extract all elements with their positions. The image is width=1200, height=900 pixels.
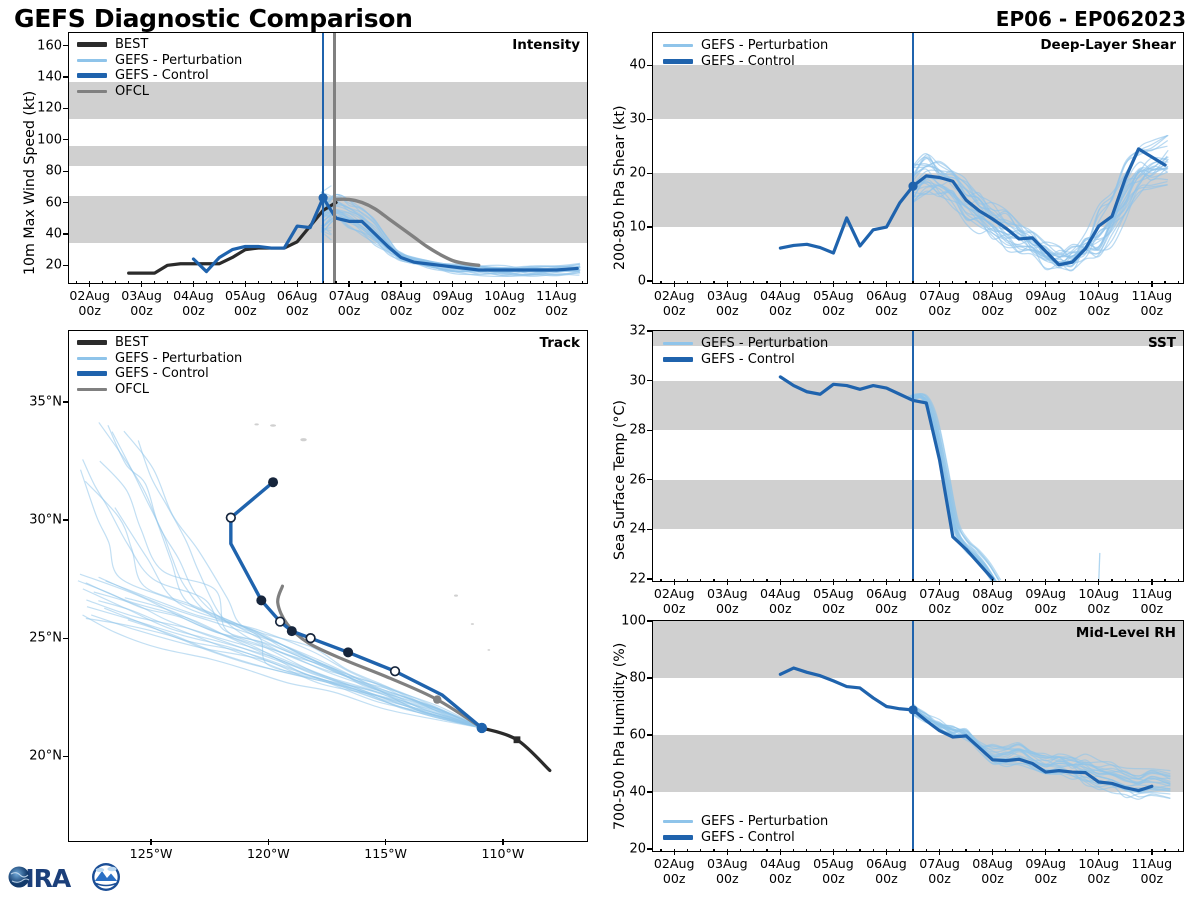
y-tick-label: 0	[614, 274, 646, 289]
x-minor-tick	[859, 579, 860, 582]
legend-swatch-control	[77, 371, 107, 376]
legend-swatch-ofcl	[77, 388, 107, 391]
y-tick-mark	[647, 734, 652, 735]
x-tick-mark	[886, 579, 887, 585]
x-minor-tick	[766, 281, 767, 284]
x-minor-tick	[713, 579, 714, 582]
x-minor-tick	[1032, 849, 1033, 852]
x-tick-label: 04Aug00z	[173, 288, 214, 318]
legend-swatch-perturbation	[663, 820, 693, 823]
x-minor-tick	[219, 281, 220, 284]
x-tick-label: 05Aug00z	[225, 288, 266, 318]
y-tick-label: 100	[30, 132, 62, 147]
island	[487, 649, 490, 651]
x-minor-tick	[713, 849, 714, 852]
y-tick-label: 40	[614, 58, 646, 73]
ensemble-member	[911, 394, 999, 580]
x-minor-tick	[1178, 579, 1179, 582]
x-tick-label: 10Aug00z	[1078, 586, 1119, 616]
y-tick-label: 20	[614, 166, 646, 181]
lon-tick-label: 110°W	[482, 846, 525, 861]
x-tick-label: 09Aug00z	[1025, 288, 1066, 318]
legend-label-perturbation: GEFS - Perturbation	[701, 814, 828, 830]
x-tick-label: 07Aug00z	[329, 288, 370, 318]
x-minor-tick	[700, 849, 701, 852]
x-minor-tick	[323, 281, 324, 284]
legend-swatch-best	[77, 340, 107, 345]
x-minor-tick	[979, 281, 980, 284]
x-tick-mark	[833, 281, 834, 287]
rh-panel-title: Mid-Level RH	[1076, 625, 1176, 641]
x-minor-tick	[806, 579, 807, 582]
x-minor-tick	[846, 849, 847, 852]
x-tick-mark	[727, 281, 728, 287]
x-minor-tick	[1111, 849, 1112, 852]
legend-label-perturbation: GEFS - Perturbation	[115, 351, 242, 367]
intensity-legend: BEST GEFS - Perturbation GEFS - Control …	[77, 37, 242, 99]
lat-tick-label: 25°N	[16, 631, 62, 646]
shear-legend: GEFS - Perturbation GEFS - Control	[663, 38, 828, 69]
x-minor-tick	[713, 281, 714, 284]
x-tick-label: 11Aug00z	[536, 288, 577, 318]
x-minor-tick	[102, 281, 103, 284]
gefs-init-line	[322, 33, 325, 283]
legend-swatch-ofcl	[77, 90, 107, 93]
x-minor-tick	[687, 849, 688, 852]
x-tick-mark	[141, 281, 142, 287]
x-tick-mark	[674, 281, 675, 287]
x-minor-tick	[873, 849, 874, 852]
x-tick-mark	[556, 281, 557, 287]
ensemble-member	[909, 397, 997, 581]
x-minor-tick	[687, 579, 688, 582]
x-tick-mark	[297, 281, 298, 287]
y-tick-label: 160	[30, 38, 62, 53]
x-minor-tick	[766, 849, 767, 852]
legend-label-perturbation: GEFS - Perturbation	[115, 53, 242, 69]
y-tick-mark	[647, 620, 652, 621]
x-tick-mark	[833, 849, 834, 855]
intensity-y-axis-label: 10m Max Wind Speed (kt)	[22, 91, 38, 275]
lon-tick-mark	[502, 839, 503, 845]
x-tick-label: 09Aug00z	[1025, 586, 1066, 616]
ensemble-member	[911, 396, 999, 581]
x-tick-mark	[348, 281, 349, 287]
control-track-marker	[268, 477, 278, 487]
legend-label-control: GEFS - Control	[701, 830, 795, 846]
x-minor-tick	[1072, 849, 1073, 852]
x-minor-tick	[413, 281, 414, 284]
x-tick-label: 02Aug00z	[654, 586, 695, 616]
x-minor-tick	[979, 849, 980, 852]
ensemble-track	[81, 470, 482, 728]
x-minor-tick	[1164, 281, 1165, 284]
x-minor-tick	[1125, 281, 1126, 284]
x-minor-tick	[740, 849, 741, 852]
ensemble-member	[910, 394, 998, 580]
x-tick-mark	[400, 281, 401, 287]
legend-label-control: GEFS - Control	[115, 366, 209, 382]
y-tick-label: 32	[614, 324, 646, 339]
x-minor-tick	[426, 281, 427, 284]
x-tick-label: 07Aug00z	[919, 586, 960, 616]
track-panel-title: Track	[540, 335, 580, 351]
x-tick-mark	[674, 849, 675, 855]
y-tick-mark	[647, 173, 652, 174]
x-tick-mark	[1045, 579, 1046, 585]
y-tick-label: 40	[30, 226, 62, 241]
ensemble-member	[913, 395, 1001, 581]
shear-panel: Deep-Layer Shear GEFS - Perturbation GEF…	[652, 32, 1184, 284]
legend-label-best: BEST	[115, 335, 148, 351]
y-tick-mark	[647, 280, 652, 281]
x-minor-tick	[806, 281, 807, 284]
x-minor-tick	[361, 281, 362, 284]
y-tick-mark	[63, 233, 68, 234]
y-tick-label: 20	[614, 842, 646, 857]
x-minor-tick	[793, 849, 794, 852]
x-minor-tick	[1085, 849, 1086, 852]
ensemble-member	[323, 206, 580, 272]
x-minor-tick	[846, 579, 847, 582]
ensemble-member	[323, 204, 580, 273]
x-minor-tick	[465, 281, 466, 284]
x-tick-label: 07Aug00z	[919, 288, 960, 318]
rh-panel: Mid-Level RH GEFS - Perturbation GEFS - …	[652, 620, 1184, 852]
x-minor-tick	[232, 281, 233, 284]
legend-label-control: GEFS - Control	[701, 54, 795, 70]
y-tick-mark	[63, 76, 68, 77]
x-minor-tick	[387, 281, 388, 284]
control-track-marker-open	[306, 634, 315, 643]
x-minor-tick	[478, 281, 479, 284]
x-minor-tick	[979, 579, 980, 582]
x-tick-label: 09Aug00z	[1025, 856, 1066, 886]
x-tick-label: 04Aug00z	[760, 856, 801, 886]
x-minor-tick	[952, 579, 953, 582]
x-tick-mark	[89, 281, 90, 287]
x-tick-label: 06Aug00z	[866, 856, 907, 886]
x-minor-tick	[740, 281, 741, 284]
x-minor-tick	[899, 281, 900, 284]
y-tick-mark	[647, 226, 652, 227]
x-tick-mark	[992, 849, 993, 855]
x-tick-mark	[245, 281, 246, 287]
x-tick-mark	[886, 849, 887, 855]
rh-legend: GEFS - Perturbation GEFS - Control	[663, 814, 828, 845]
x-tick-label: 08Aug00z	[972, 288, 1013, 318]
x-minor-tick	[206, 281, 207, 284]
control-track-marker	[256, 595, 266, 605]
x-minor-tick	[1138, 849, 1139, 852]
shear-plot-area	[653, 33, 1181, 281]
control-track-marker-open	[227, 513, 236, 522]
x-tick-label: 07Aug00z	[919, 856, 960, 886]
x-tick-label: 09Aug00z	[432, 288, 473, 318]
x-tick-mark	[1045, 849, 1046, 855]
x-tick-label: 10Aug00z	[1078, 856, 1119, 886]
control-track-marker-open	[276, 617, 285, 626]
x-tick-mark	[1151, 849, 1152, 855]
ensemble-track	[108, 425, 482, 728]
x-tick-label: 05Aug00z	[813, 586, 854, 616]
lat-tick-label: 30°N	[16, 513, 62, 528]
y-tick-label: 30	[614, 373, 646, 388]
x-minor-tick	[582, 281, 583, 284]
x-minor-tick	[1072, 281, 1073, 284]
x-tick-label: 08Aug00z	[381, 288, 422, 318]
y-tick-mark	[63, 45, 68, 46]
x-tick-mark	[886, 281, 887, 287]
legend-swatch-best	[77, 42, 107, 47]
x-tick-mark	[939, 579, 940, 585]
x-tick-label: 03Aug00z	[707, 586, 748, 616]
x-minor-tick	[926, 849, 927, 852]
x-tick-mark	[1151, 281, 1152, 287]
y-tick-label: 40	[614, 785, 646, 800]
x-minor-tick	[912, 281, 913, 284]
y-tick-label: 80	[30, 164, 62, 179]
island	[270, 424, 276, 427]
x-minor-tick	[258, 281, 259, 284]
x-minor-tick	[912, 579, 913, 582]
x-minor-tick	[1058, 579, 1059, 582]
x-minor-tick	[753, 281, 754, 284]
x-minor-tick	[569, 281, 570, 284]
x-tick-mark	[939, 281, 940, 287]
x-tick-mark	[727, 579, 728, 585]
ensemble-member	[913, 710, 1170, 792]
x-minor-tick	[965, 281, 966, 284]
control-track-marker	[343, 647, 353, 657]
lon-tick-label: 120°W	[247, 846, 290, 861]
y-tick-label: 26	[614, 472, 646, 487]
y-tick-mark	[647, 677, 652, 678]
best-track	[482, 728, 550, 771]
y-tick-label: 60	[614, 728, 646, 743]
legend-swatch-perturbation	[77, 357, 107, 360]
x-tick-mark	[1098, 281, 1099, 287]
x-minor-tick	[1005, 849, 1006, 852]
x-minor-tick	[154, 281, 155, 284]
y-tick-mark	[63, 265, 68, 266]
x-minor-tick	[284, 281, 285, 284]
x-minor-tick	[700, 579, 701, 582]
x-tick-label: 10Aug00z	[1078, 288, 1119, 318]
y-tick-mark	[647, 380, 652, 381]
y-tick-mark	[647, 791, 652, 792]
x-minor-tick	[115, 281, 116, 284]
x-tick-label: 08Aug00z	[972, 586, 1013, 616]
x-minor-tick	[1085, 579, 1086, 582]
x-tick-mark	[780, 849, 781, 855]
x-minor-tick	[1125, 849, 1126, 852]
x-minor-tick	[1019, 579, 1020, 582]
x-minor-tick	[543, 281, 544, 284]
x-tick-label: 05Aug00z	[813, 288, 854, 318]
best-track-marker	[514, 736, 521, 743]
x-minor-tick	[965, 579, 966, 582]
y-tick-label: 22	[614, 572, 646, 587]
control-track-init-marker	[477, 723, 487, 733]
x-minor-tick	[660, 579, 661, 582]
x-minor-tick	[271, 281, 272, 284]
x-minor-tick	[439, 281, 440, 284]
ensemble-member	[910, 395, 998, 581]
x-tick-mark	[780, 281, 781, 287]
ensemble-member	[912, 397, 1000, 581]
control-track-marker	[287, 626, 297, 636]
y-tick-label: 140	[30, 69, 62, 84]
y-tick-mark	[647, 65, 652, 66]
x-tick-mark	[1098, 579, 1099, 585]
lat-tick-label: 20°N	[16, 749, 62, 764]
x-minor-tick	[517, 281, 518, 284]
x-minor-tick	[873, 281, 874, 284]
gefs-init-line	[912, 33, 915, 283]
x-tick-mark	[1151, 579, 1152, 585]
x-minor-tick	[310, 281, 311, 284]
lon-tick-label: 125°W	[130, 846, 173, 861]
x-tick-label: 10Aug00z	[484, 288, 525, 318]
y-tick-label: 28	[614, 423, 646, 438]
series-gefs-control	[780, 377, 992, 579]
ensemble-member	[910, 396, 998, 581]
island	[471, 623, 474, 625]
sst-legend: GEFS - Perturbation GEFS - Control	[663, 336, 828, 367]
ofcl-marker	[433, 695, 441, 703]
legend-swatch-perturbation	[663, 44, 693, 47]
x-tick-label: 04Aug00z	[760, 288, 801, 318]
ensemble-track	[124, 431, 482, 728]
track-panel: Track BEST GEFS - Perturbation GEFS - Co…	[68, 330, 588, 842]
y-tick-mark	[647, 479, 652, 480]
island	[300, 438, 306, 441]
shear-y-axis-label: 200-850 hPa Shear (kt)	[612, 105, 628, 270]
x-minor-tick	[167, 281, 168, 284]
x-minor-tick	[740, 579, 741, 582]
y-tick-label: 60	[30, 195, 62, 210]
x-tick-label: 02Aug00z	[654, 856, 695, 886]
x-tick-label: 06Aug00z	[866, 586, 907, 616]
x-minor-tick	[753, 849, 754, 852]
y-tick-mark	[647, 578, 652, 579]
x-minor-tick	[1019, 281, 1020, 284]
x-minor-tick	[1072, 579, 1073, 582]
lon-tick-label: 115°W	[364, 846, 407, 861]
x-tick-mark	[939, 849, 940, 855]
sst-plot-area	[653, 331, 1181, 579]
x-minor-tick	[899, 849, 900, 852]
ensemble-member	[909, 396, 997, 581]
x-minor-tick	[1125, 579, 1126, 582]
x-minor-tick	[374, 281, 375, 284]
legend-label-ofcl: OFCL	[115, 382, 149, 398]
x-tick-label: 11Aug00z	[1132, 856, 1173, 886]
x-minor-tick	[806, 849, 807, 852]
x-tick-label: 02Aug00z	[69, 288, 110, 318]
y-tick-mark	[647, 529, 652, 530]
island	[254, 423, 258, 425]
x-tick-mark	[780, 579, 781, 585]
x-minor-tick	[1138, 281, 1139, 284]
legend-label-best: BEST	[115, 37, 148, 53]
cira-logo: CIRA	[6, 857, 130, 897]
ensemble-member	[1099, 553, 1100, 581]
x-minor-tick	[1019, 849, 1020, 852]
x-minor-tick	[1111, 281, 1112, 284]
lat-tick-label: 35°N	[16, 394, 62, 409]
y-tick-mark	[647, 330, 652, 331]
storm-identifier: EP06 - EP062023	[996, 7, 1186, 31]
ensemble-track	[83, 459, 482, 728]
x-tick-label: 06Aug00z	[866, 288, 907, 318]
x-tick-label: 05Aug00z	[813, 856, 854, 886]
intensity-panel: Intensity BEST GEFS - Perturbation GEFS …	[68, 32, 588, 284]
x-tick-mark	[1098, 849, 1099, 855]
x-tick-label: 08Aug00z	[972, 856, 1013, 886]
x-tick-label: 03Aug00z	[121, 288, 162, 318]
x-tick-mark	[674, 579, 675, 585]
lon-tick-mark	[150, 839, 151, 845]
x-minor-tick	[820, 281, 821, 284]
y-tick-mark	[63, 171, 68, 172]
x-minor-tick	[899, 579, 900, 582]
legend-swatch-control	[663, 59, 693, 64]
ensemble-member	[913, 397, 1001, 581]
x-tick-mark	[193, 281, 194, 287]
x-minor-tick	[1164, 849, 1165, 852]
x-minor-tick	[335, 281, 336, 284]
x-tick-label: 03Aug00z	[707, 856, 748, 886]
y-tick-mark	[63, 139, 68, 140]
ensemble-member	[911, 396, 999, 581]
ensemble-member	[911, 397, 999, 581]
x-minor-tick	[660, 849, 661, 852]
x-minor-tick	[846, 281, 847, 284]
y-tick-mark	[647, 119, 652, 120]
x-minor-tick	[1138, 579, 1139, 582]
legend-label-perturbation: GEFS - Perturbation	[701, 336, 828, 352]
x-minor-tick	[687, 281, 688, 284]
x-minor-tick	[530, 281, 531, 284]
x-tick-label: 06Aug00z	[277, 288, 318, 318]
lat-tick-mark	[63, 638, 68, 639]
lat-tick-mark	[63, 519, 68, 520]
control-track-marker-open	[391, 667, 400, 676]
ensemble-member	[909, 395, 997, 581]
ensemble-member	[913, 394, 1001, 580]
legend-label-ofcl: OFCL	[115, 84, 149, 100]
legend-label-control: GEFS - Control	[115, 68, 209, 84]
x-minor-tick	[1005, 579, 1006, 582]
x-minor-tick	[1178, 849, 1179, 852]
ensemble-member	[910, 397, 998, 581]
lon-tick-mark	[268, 839, 269, 845]
legend-label-perturbation: GEFS - Perturbation	[701, 38, 828, 54]
x-minor-tick	[965, 849, 966, 852]
x-minor-tick	[128, 281, 129, 284]
y-tick-label: 120	[30, 101, 62, 116]
x-minor-tick	[793, 579, 794, 582]
y-tick-label: 80	[614, 671, 646, 686]
y-tick-mark	[647, 430, 652, 431]
x-tick-label: 11Aug00z	[1132, 586, 1173, 616]
x-minor-tick	[76, 281, 77, 284]
ensemble-track	[112, 432, 482, 728]
x-tick-label: 02Aug00z	[654, 288, 695, 318]
y-tick-label: 24	[614, 522, 646, 537]
